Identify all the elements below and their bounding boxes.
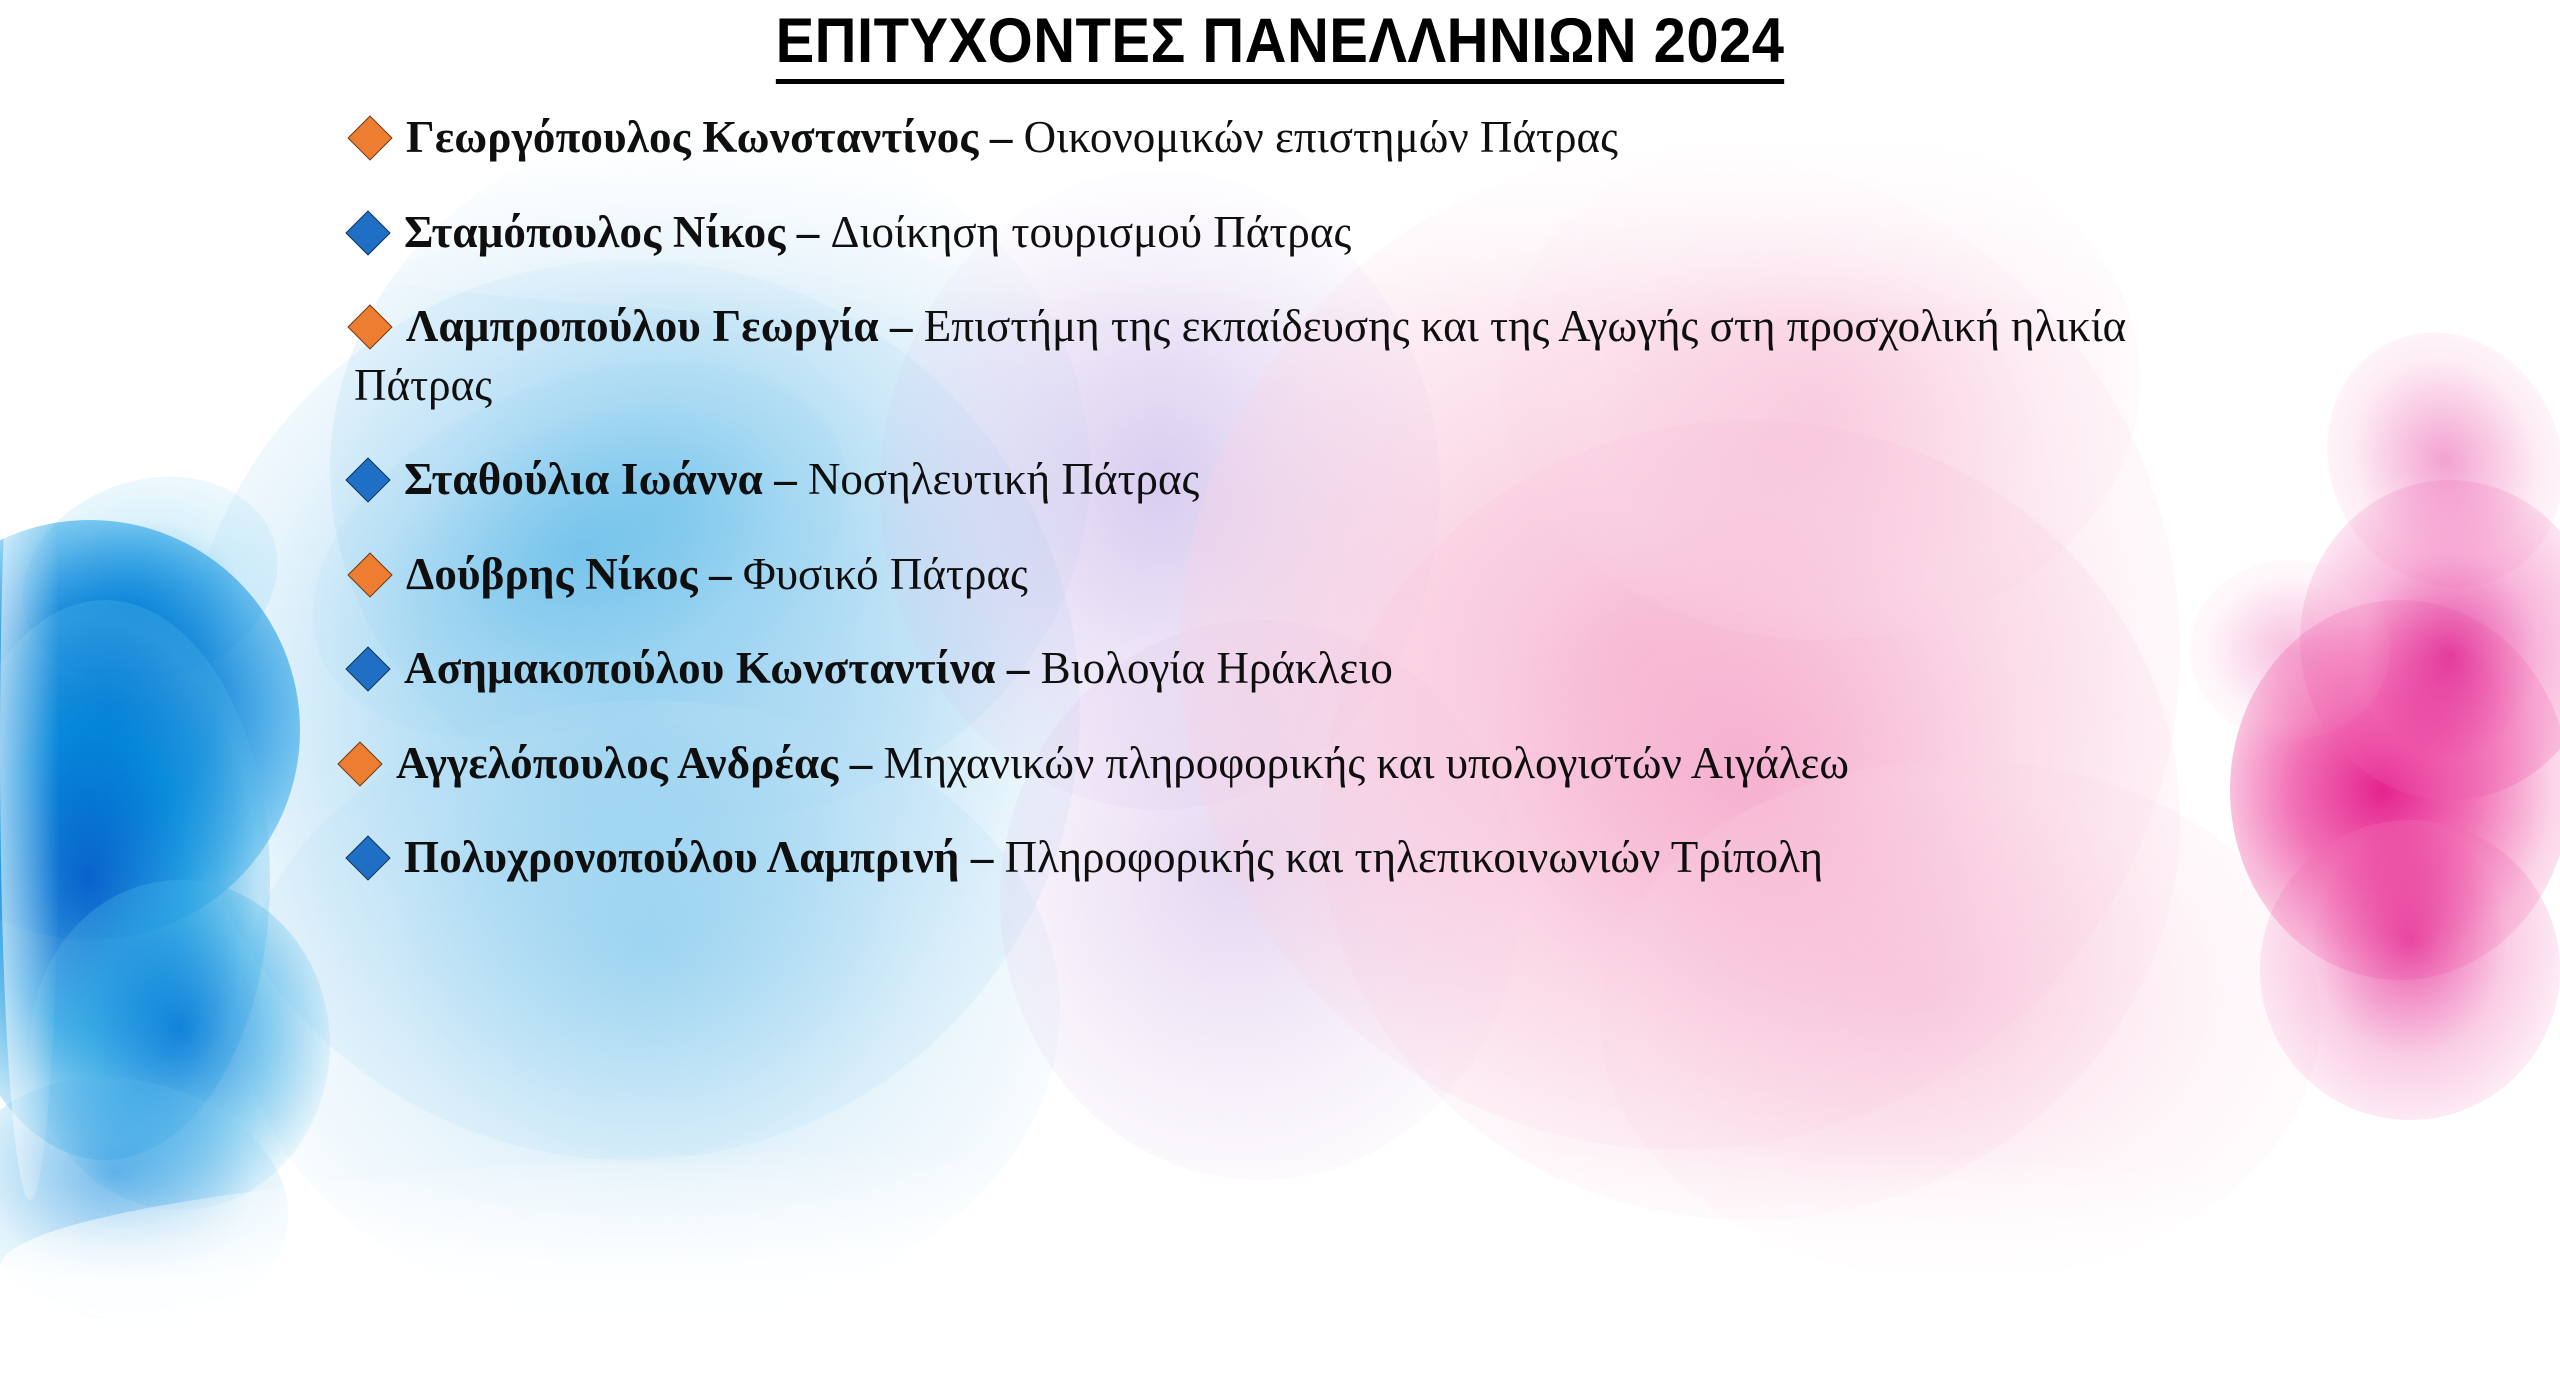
achiever-dash: – — [960, 832, 1005, 882]
achiever-dash: – — [786, 207, 831, 257]
bullet-wrap — [354, 297, 406, 356]
achiever-department: Βιολογία Ηράκλειο — [1041, 643, 1393, 693]
achiever-name: Σταμόπουλος Νίκος — [404, 207, 786, 257]
diamond-blue-icon — [345, 646, 390, 691]
bullet-wrap — [352, 639, 404, 698]
achiever-name: Αγγελόπουλος Ανδρέας — [396, 738, 839, 788]
diamond-orange-icon — [347, 304, 392, 349]
diamond-orange-icon — [347, 552, 392, 597]
presentation-slide: ΕΠΙΤΥΧΟΝΤΕΣ ΠΑΝΕΛΛΗΝΙΩΝ 2024 Γεωργόπουλο… — [0, 0, 2560, 1395]
achiever-department: Πληροφορικής και τηλεπικοινωνιών Τρίπολη — [1005, 832, 1823, 882]
achiever-dash: – — [979, 112, 1024, 162]
achiever-department: Οικονομικών επιστημών Πάτρας — [1024, 112, 1618, 162]
achiever-name: Λαμπροπούλου Γεωργία — [406, 301, 879, 351]
achiever-department: Φυσικό Πάτρας — [743, 549, 1028, 599]
list-item: Γεωργόπουλος Κωνσταντίνος – Οικονομικών … — [344, 108, 2274, 167]
bullet-wrap — [354, 108, 406, 167]
bullet-wrap — [352, 203, 404, 262]
bullet-wrap — [352, 450, 404, 509]
list-item: Ασημακοπούλου Κωνσταντίνα – Βιολογία Ηρά… — [344, 639, 2274, 698]
achievers-list: Γεωργόπουλος Κωνσταντίνος – Οικονομικών … — [344, 108, 2274, 923]
list-item: Αγγελόπουλος Ανδρέας – Μηχανικών πληροφο… — [344, 734, 2274, 793]
diamond-orange-icon — [337, 741, 382, 786]
achiever-name: Δούβρης Νίκος — [406, 549, 698, 599]
list-item: Σταμόπουλος Νίκος – Διοίκηση τουρισμού Π… — [344, 203, 2274, 262]
list-item: Λαμπροπούλου Γεωργία – Επιστήμη της εκπα… — [344, 297, 2274, 414]
achiever-name: Σταθούλια Ιωάννα — [404, 454, 763, 504]
page-title-text: ΕΠΙΤΥΧΟΝΤΕΣ ΠΑΝΕΛΛΗΝΙΩΝ 2024 — [776, 6, 1785, 84]
achiever-dash: – — [698, 549, 743, 599]
diamond-orange-icon — [347, 115, 392, 160]
list-item: Δούβρης Νίκος – Φυσικό Πάτρας — [344, 545, 2274, 604]
achiever-name: Πολυχρονοπούλου Λαμπρινή — [404, 832, 960, 882]
achiever-department: Μηχανικών πληροφορικής και υπολογιστών Α… — [884, 738, 1850, 788]
achiever-department: Νοσηλευτική Πάτρας — [808, 454, 1199, 504]
achiever-dash: – — [996, 643, 1041, 693]
list-item: Πολυχρονοπούλου Λαμπρινή – Πληροφορικής … — [344, 828, 2274, 887]
bullet-wrap — [354, 545, 406, 604]
bullet-wrap — [344, 734, 396, 793]
achiever-dash: – — [879, 301, 924, 351]
bullet-wrap — [352, 828, 404, 887]
achiever-dash: – — [763, 454, 808, 504]
diamond-blue-icon — [345, 457, 390, 502]
list-item: Σταθούλια Ιωάννα – Νοσηλευτική Πάτρας — [344, 450, 2274, 509]
diamond-blue-icon — [345, 835, 390, 880]
page-title: ΕΠΙΤΥΧΟΝΤΕΣ ΠΑΝΕΛΛΗΝΙΩΝ 2024 — [102, 6, 2457, 84]
achiever-department: Διοίκηση τουρισμού Πάτρας — [831, 207, 1352, 257]
achiever-name: Ασημακοπούλου Κωνσταντίνα — [404, 643, 996, 693]
diamond-blue-icon — [345, 210, 390, 255]
achiever-dash: – — [839, 738, 884, 788]
achiever-name: Γεωργόπουλος Κωνσταντίνος — [406, 112, 979, 162]
slide-content: ΕΠΙΤΥΧΟΝΤΕΣ ΠΑΝΕΛΛΗΝΙΩΝ 2024 Γεωργόπουλο… — [0, 0, 2560, 1395]
